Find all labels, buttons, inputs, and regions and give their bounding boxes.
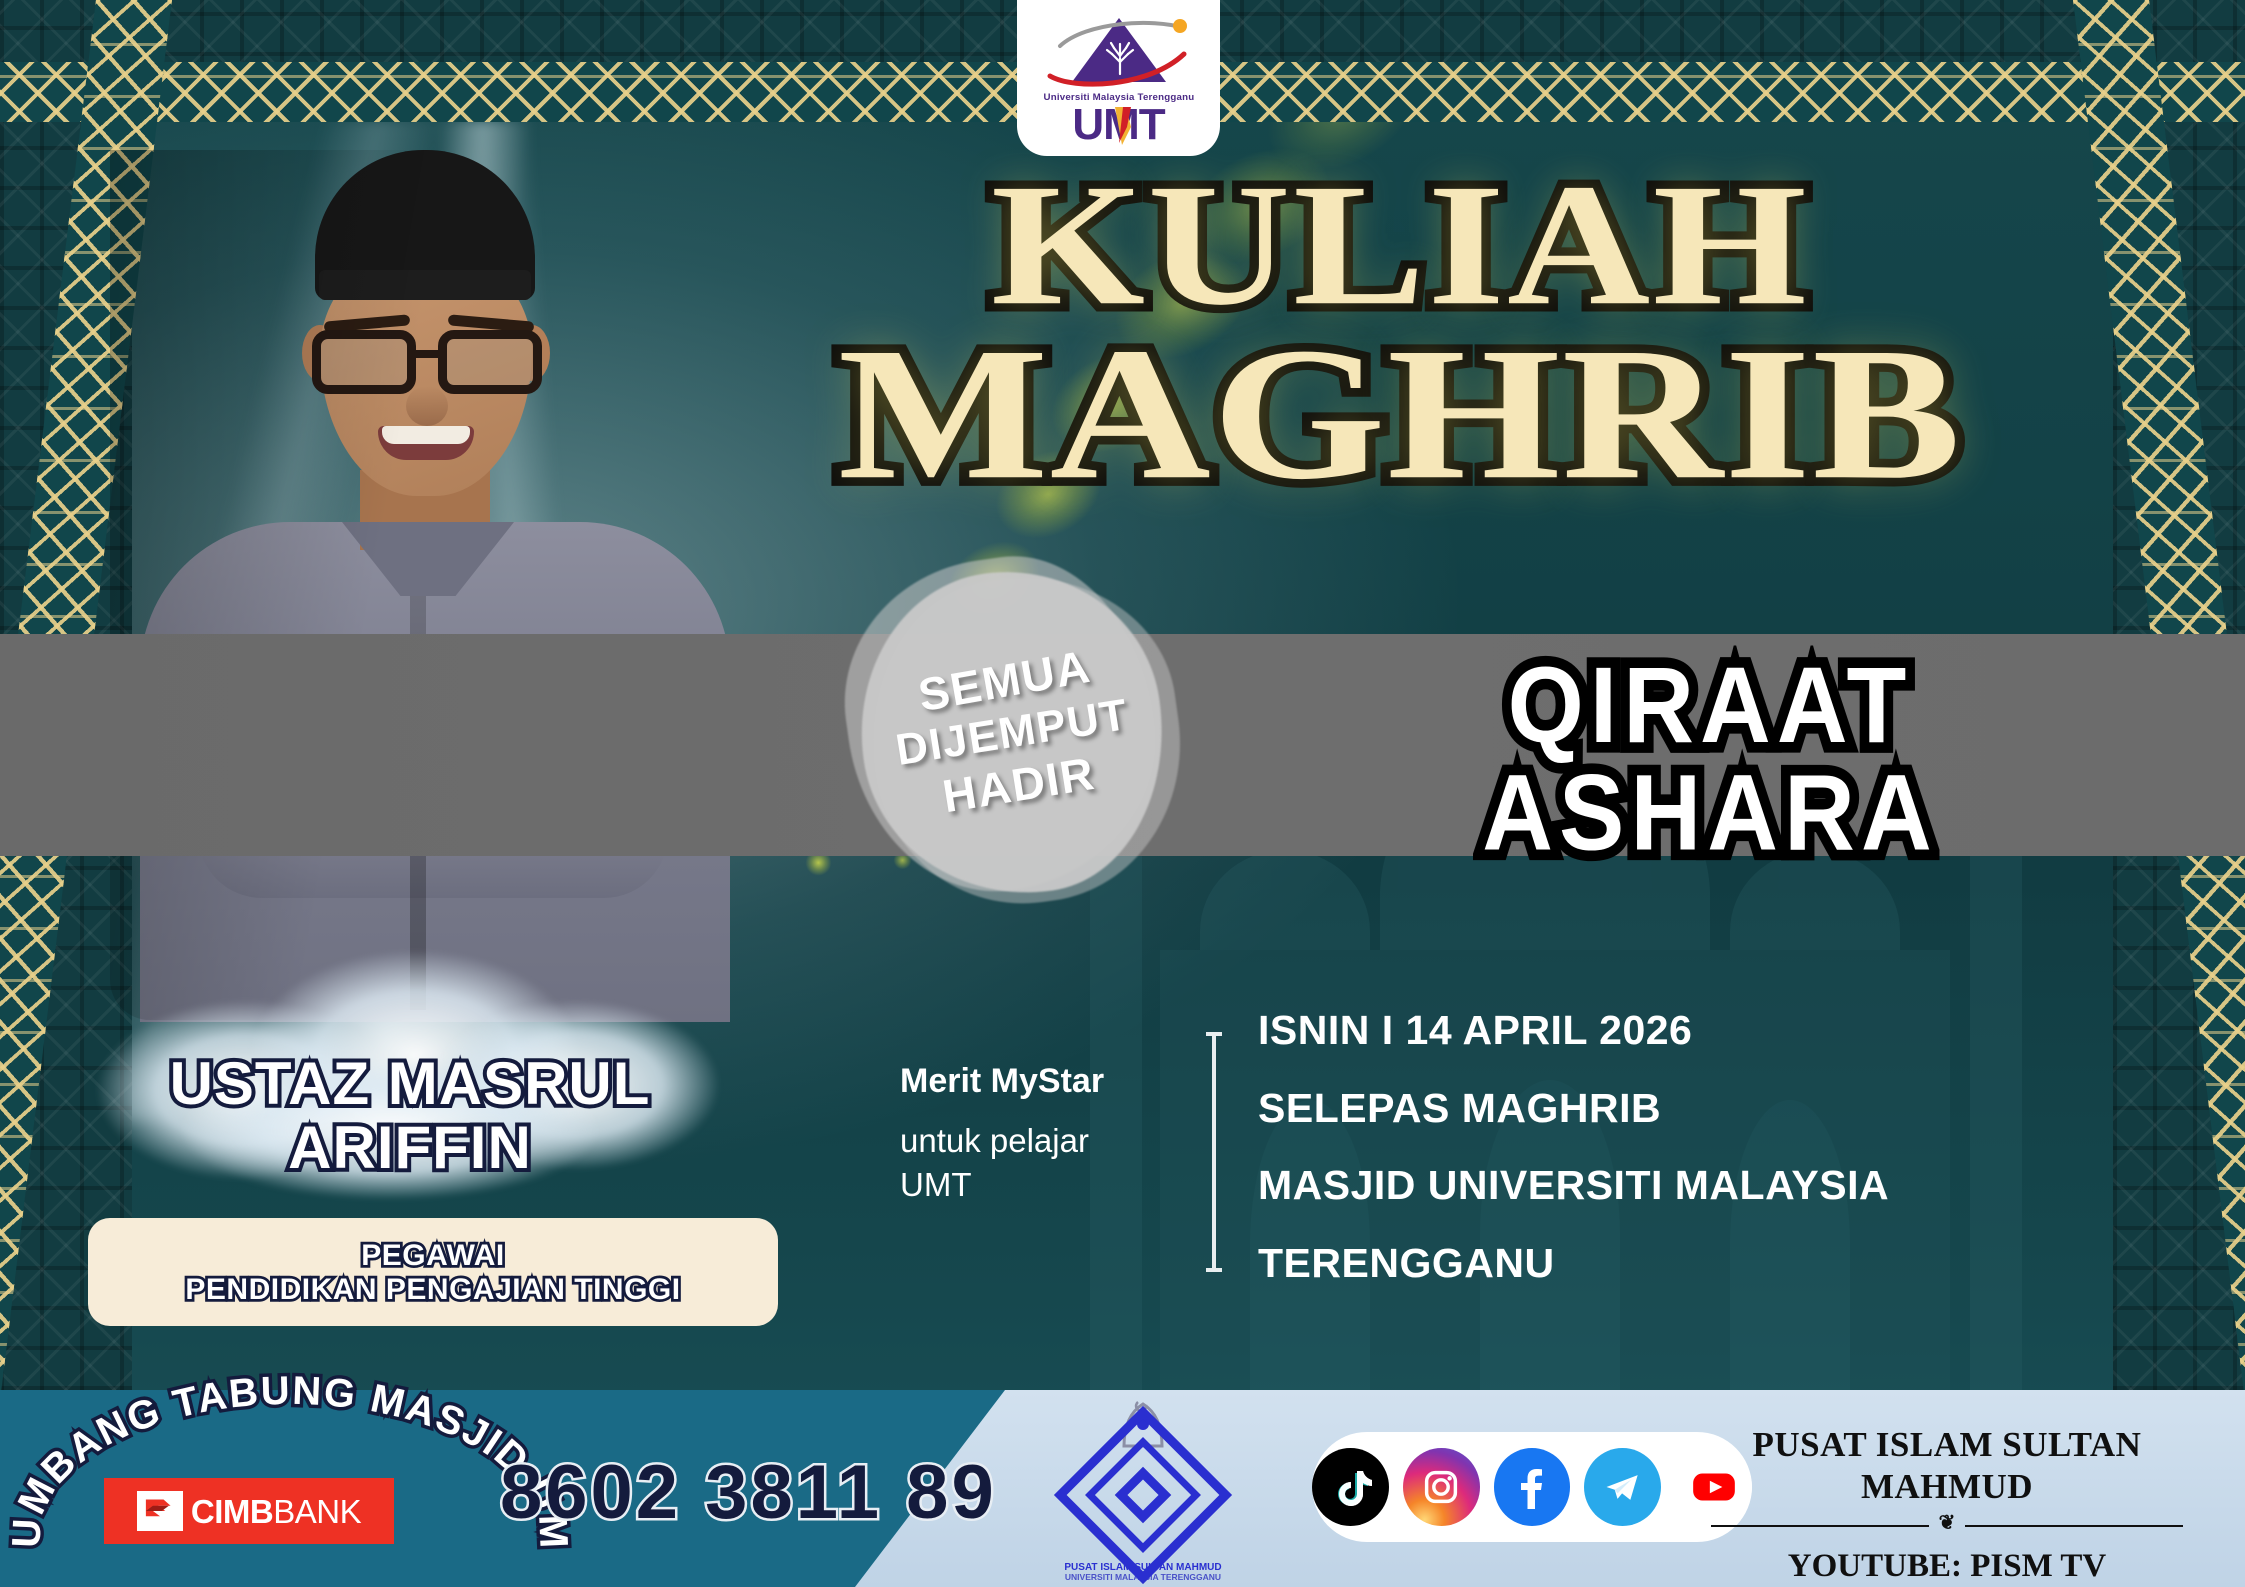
detail-venue-line-1: MASJID UNIVERSITI MALAYSIA	[1258, 1155, 2158, 1217]
pism-kufic-emblem-icon	[1054, 1406, 1232, 1584]
invitation-badge: SEMUA DIJEMPUT HADIR	[841, 553, 1183, 914]
tiktok-icon[interactable]	[1312, 1448, 1389, 1526]
speaker-name-line-1: USTAZ MASRUL	[60, 1052, 760, 1116]
merit-heading: Merit MyStar	[900, 1060, 1160, 1103]
facebook-icon[interactable]	[1494, 1448, 1571, 1526]
instagram-icon[interactable]	[1403, 1448, 1480, 1526]
ornament-divider: ❦	[1697, 1515, 2197, 1537]
social-media-bar	[1312, 1432, 1752, 1542]
umt-coral-icon	[1102, 40, 1138, 76]
pism-logo: PUSAT ISLAM SULTAN MAHMUD UNIVERSITI MAL…	[1048, 1392, 1238, 1587]
umt-acronym: UMT	[1072, 103, 1164, 147]
ornament-glyph: ❦	[1939, 1513, 1956, 1533]
speaker-role-line-2: PENDIDIKAN PENGAJIAN TINGGI	[185, 1273, 680, 1306]
organizer-youtube: YOUTUBE: PISM TV	[1697, 1547, 2197, 1587]
title-line-kuliah: KULIAH	[503, 165, 2245, 326]
cimb-bank-name: CIMBBANK	[191, 1495, 361, 1528]
speaker-role-box: PEGAWAI PENDIDIKAN PENGAJIAN TINGGI	[88, 1218, 778, 1326]
umt-accent-icon	[1113, 105, 1133, 147]
topic-title: QIRAAT ASHARA	[1300, 664, 2120, 856]
event-details: ISNIN I 14 APRIL 2026 SELEPAS MAGHRIB MA…	[1258, 1000, 2158, 1294]
vertical-divider	[1212, 1032, 1216, 1272]
cimb-bank-logo: CIMBBANK	[104, 1478, 394, 1544]
speaker-name-line-2: ARIFFIN	[60, 1116, 760, 1180]
detail-day-date: ISNIN I 14 APRIL 2026	[1258, 1000, 2158, 1062]
organizer-info: PUSAT ISLAM SULTAN MAHMUD ❦ YOUTUBE: PIS…	[1697, 1424, 2197, 1587]
detail-venue-line-2: TERENGGANU	[1258, 1233, 2158, 1295]
cimb-mark-icon	[137, 1491, 183, 1531]
title-line-maghrib: MAGHRIB	[488, 327, 2245, 502]
cimb-name-light: BANK	[273, 1493, 361, 1530]
umt-logo: Universiti Malaysia Terengganu UMT	[1017, 0, 1220, 156]
speaker-role-line-1: PEGAWAI	[361, 1239, 505, 1272]
merit-note: Merit MyStar untuk pelajar UMT	[900, 1060, 1160, 1208]
poster-root: Universiti Malaysia Terengganu UMT	[0, 0, 2245, 1587]
bank-account-number: 8602 3811 89	[500, 1455, 997, 1531]
speaker-name: USTAZ MASRUL ARIFFIN	[60, 1052, 760, 1179]
organizer-name: PUSAT ISLAM SULTAN MAHMUD	[1697, 1424, 2197, 1508]
umt-logo-mark	[1044, 14, 1194, 92]
detail-time: SELEPAS MAGHRIB	[1258, 1078, 2158, 1140]
telegram-icon[interactable]	[1584, 1448, 1661, 1526]
cimb-name-bold: CIMB	[191, 1493, 273, 1530]
merit-body: untuk pelajar UMT	[900, 1119, 1160, 1208]
event-title: KULIAH MAGHRIB	[640, 168, 2160, 500]
songkok-icon	[315, 150, 535, 300]
